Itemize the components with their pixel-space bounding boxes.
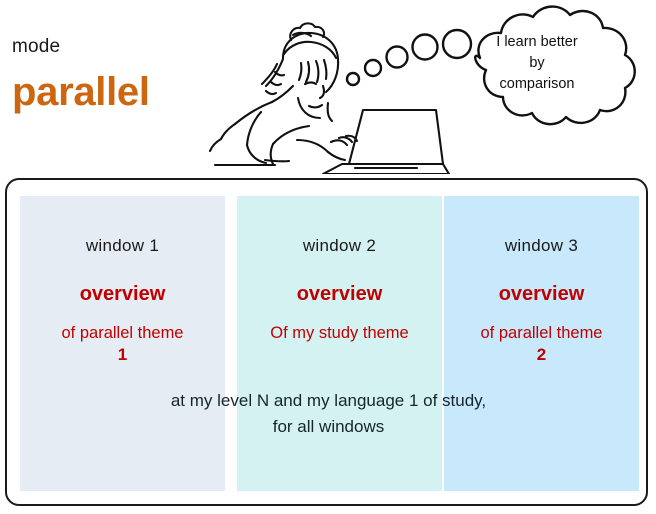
header: mode parallel [0,0,656,175]
window-panel-1[interactable]: window 1 overview of parallel theme 1 [20,196,225,491]
window-1-overview-heading: overview [20,283,225,306]
window-3-overview-heading: overview [444,283,639,306]
window-1-title: window 1 [20,236,225,256]
window-panel-3[interactable]: window 3 overview of parallel theme 2 [444,196,639,491]
window-1-subtitle-text: of parallel theme [62,324,184,342]
mode-label: mode [12,36,60,58]
thought-bubble-line-1: I learn better [462,32,612,53]
window-3-theme-number: 2 [444,344,639,366]
window-3-title: window 3 [444,236,639,256]
window-2-subtitle: Of my study theme [237,322,442,344]
window-1-subtitle: of parallel theme 1 [20,322,225,366]
window-2-title: window 2 [237,236,442,256]
thought-bubble-text: I learn better by comparison [462,32,612,95]
window-2-overview-heading: overview [237,283,442,306]
window-2-subtitle-text: Of my study theme [270,324,408,342]
window-3-subtitle-text: of parallel theme [481,324,603,342]
window-1-theme-number: 1 [20,344,225,366]
window-3-subtitle: of parallel theme 2 [444,322,639,366]
thought-bubble-line-3: comparison [462,74,612,95]
window-panel-2[interactable]: window 2 overview Of my study theme [237,196,442,491]
thought-bubble-line-2: by [462,53,612,74]
windows-panel: window 1 overview of parallel theme 1 wi… [5,178,648,506]
mode-value: parallel [12,70,150,115]
